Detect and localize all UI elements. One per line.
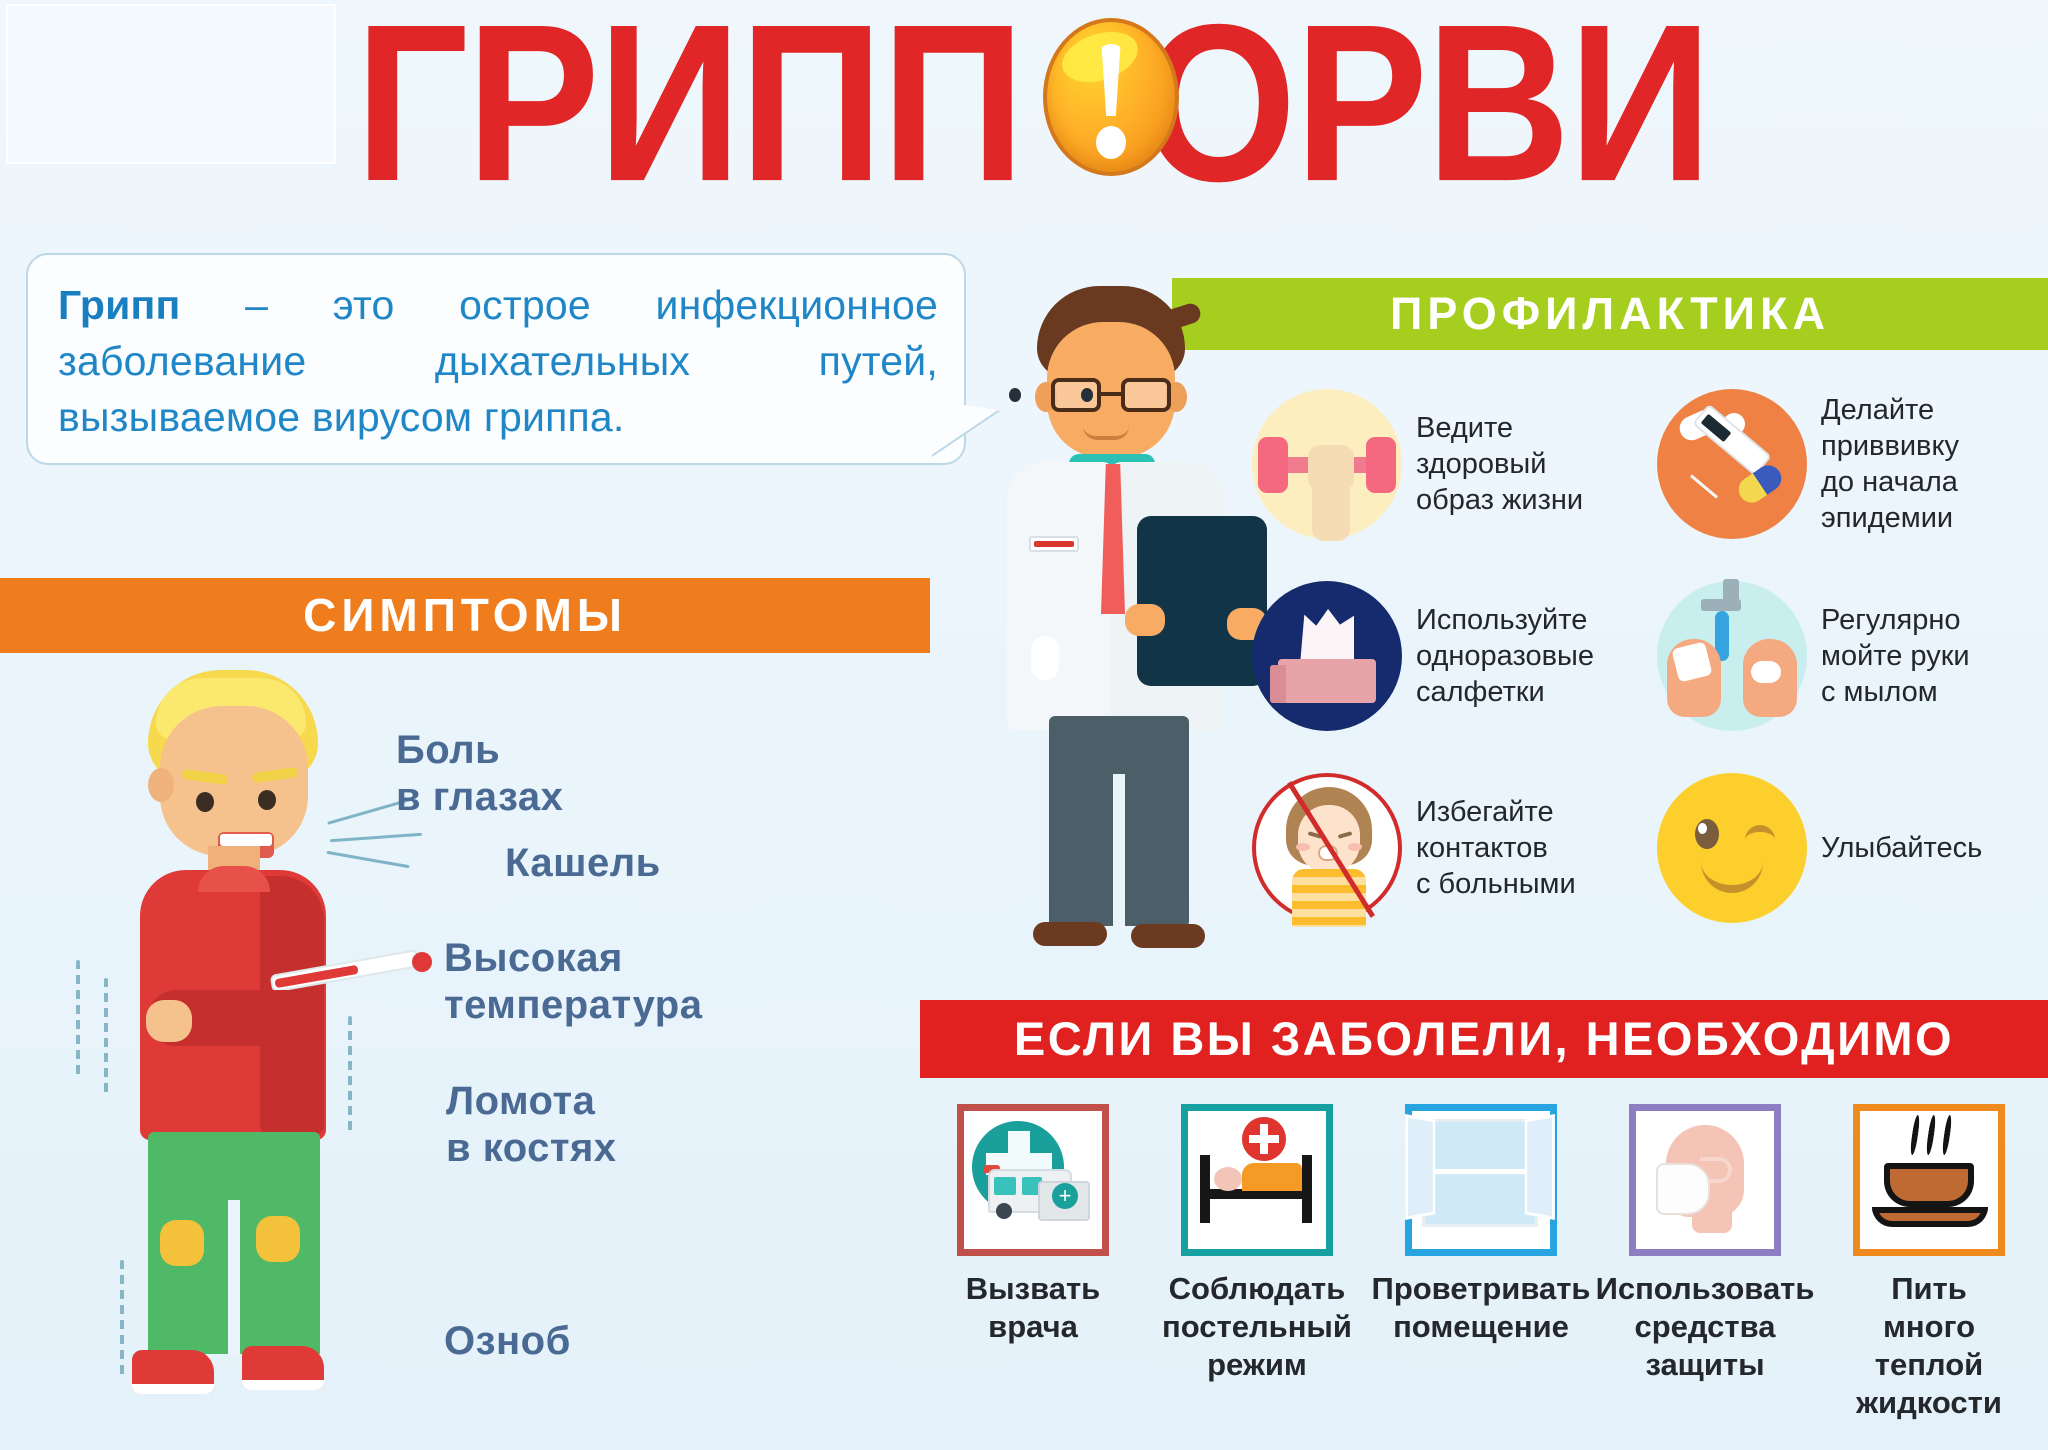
exclamation-circle-icon [1043, 18, 1179, 176]
prevention-row: Используйте одноразовые салфетки Регуляр… [1252, 560, 2048, 752]
symptoms-banner-label: СИМПТОМЫ [0, 578, 930, 653]
action-card-label: Пить много теплой жидкости [1826, 1270, 2032, 1422]
action-card-label: Вызвать врача [966, 1270, 1100, 1346]
doctor-name-badge [1029, 536, 1079, 552]
if-sick-banner-label: ЕСЛИ ВЫ ЗАБОЛЕЛИ, НЕОБХОДИМО [920, 1000, 2048, 1078]
prevention-banner-label: ПРОФИЛАКТИКА [1172, 278, 2048, 350]
hot-drink-icon [1853, 1104, 2005, 1256]
if-sick-banner: ЕСЛИ ВЫ ЗАБОЛЕЛИ, НЕОБХОДИМО [920, 1000, 2048, 1078]
action-card-bed-rest: Соблюдать постельный режим [1154, 1104, 1360, 1422]
prevention-item-text: Делайте приввивку до начала эпидемии [1821, 392, 1959, 536]
symptom-label-chills: Озноб [444, 1318, 571, 1365]
action-card-call-doctor: Вызвать врача [930, 1104, 1136, 1422]
action-card-label: Соблюдать постельный режим [1162, 1270, 1352, 1384]
exclamation-bar [1096, 44, 1126, 116]
no-contact-icon [1252, 773, 1402, 923]
prevention-item-vaccination: Делайте приввивку до начала эпидемии [1657, 368, 2048, 560]
prevention-item-healthy-lifestyle: Ведите здоровый образ жизни [1252, 368, 1657, 560]
symptom-label-body-aches: Ломота в костях [446, 1078, 617, 1172]
prevention-row: Избегайте контактов с больными Улыбайтес… [1252, 752, 2048, 944]
prevention-item-text: Избегайте контактов с больными [1416, 794, 1576, 902]
intro-speech-bubble: Грипп – это острое инфекционное заболева… [26, 253, 966, 465]
symptom-label-fever: Высокая температура [444, 935, 702, 1029]
symptom-label-eye-pain: Боль в глазах [396, 727, 563, 821]
exclamation-dot [1096, 126, 1126, 159]
symptom-label-cough: Кашель [505, 840, 661, 887]
prevention-item-avoid-contact: Избегайте контактов с больными [1252, 752, 1657, 944]
open-window-icon [1405, 1104, 1557, 1256]
action-card-label: Использовать средства защиты [1596, 1270, 1815, 1384]
winking-smiley-icon [1657, 773, 1807, 923]
dumbbell-icon [1252, 389, 1402, 539]
clipboard-icon [1137, 516, 1267, 686]
prevention-item-wash-hands: Регулярно мойте руки с мылом [1657, 560, 2048, 752]
intro-body-text: – это острое инфекционное заболевание ды… [58, 282, 938, 440]
intro-text: Грипп – это острое инфекционное заболева… [58, 277, 938, 445]
prevention-item-text: Улыбайтесь [1821, 830, 1982, 866]
ambulance-icon [957, 1104, 1109, 1256]
eyeglasses-icon [1047, 378, 1175, 412]
prevention-item-smile: Улыбайтесь [1657, 752, 2048, 944]
syringe-icon [1657, 389, 1807, 539]
prevention-item-text: Регулярно мойте руки с мылом [1821, 602, 1970, 710]
face-mask-icon [1629, 1104, 1781, 1256]
washing-hands-icon [1657, 581, 1807, 731]
symptoms-banner: СИМПТОМЫ [0, 578, 930, 653]
prevention-banner: ПРОФИЛАКТИКА [1172, 278, 2048, 350]
prevention-item-text: Используйте одноразовые салфетки [1416, 602, 1594, 710]
if-sick-card-list: Вызвать врача Соблюдать постельный режим… [920, 1104, 2048, 1422]
prevention-item-text: Ведите здоровый образ жизни [1416, 410, 1583, 518]
action-card-ventilate-room: Проветривать помещение [1378, 1104, 1584, 1422]
action-card-use-protection: Использовать средства защиты [1602, 1104, 1808, 1422]
tissue-box-icon [1252, 581, 1402, 731]
action-card-label: Проветривать помещение [1372, 1270, 1591, 1346]
title-text: ГРИППОРВИ [355, 0, 1710, 216]
hospital-bed-icon [1181, 1104, 1333, 1256]
prevention-row: Ведите здоровый образ жизни Делайте прив… [1252, 368, 2048, 560]
doctor-illustration [985, 286, 1255, 976]
intro-lead-word: Грипп [58, 282, 180, 328]
poster-title: ГРИППОРВИ [0, 0, 2048, 215]
action-card-drink-warm-fluids: Пить много теплой жидкости [1826, 1104, 2032, 1422]
sick-boy-illustration [60, 660, 390, 1450]
prevention-grid: Ведите здоровый образ жизни Делайте прив… [1252, 368, 2048, 944]
title-decorative-box [6, 4, 336, 164]
poster-root: ГРИППОРВИ Грипп – это острое инфекционно… [0, 0, 2048, 1450]
title-part-grip: ГРИПП [355, 0, 1023, 216]
prevention-item-disposable-tissues: Используйте одноразовые салфетки [1252, 560, 1657, 752]
title-part-orvi: ОРВИ [1141, 0, 1710, 216]
